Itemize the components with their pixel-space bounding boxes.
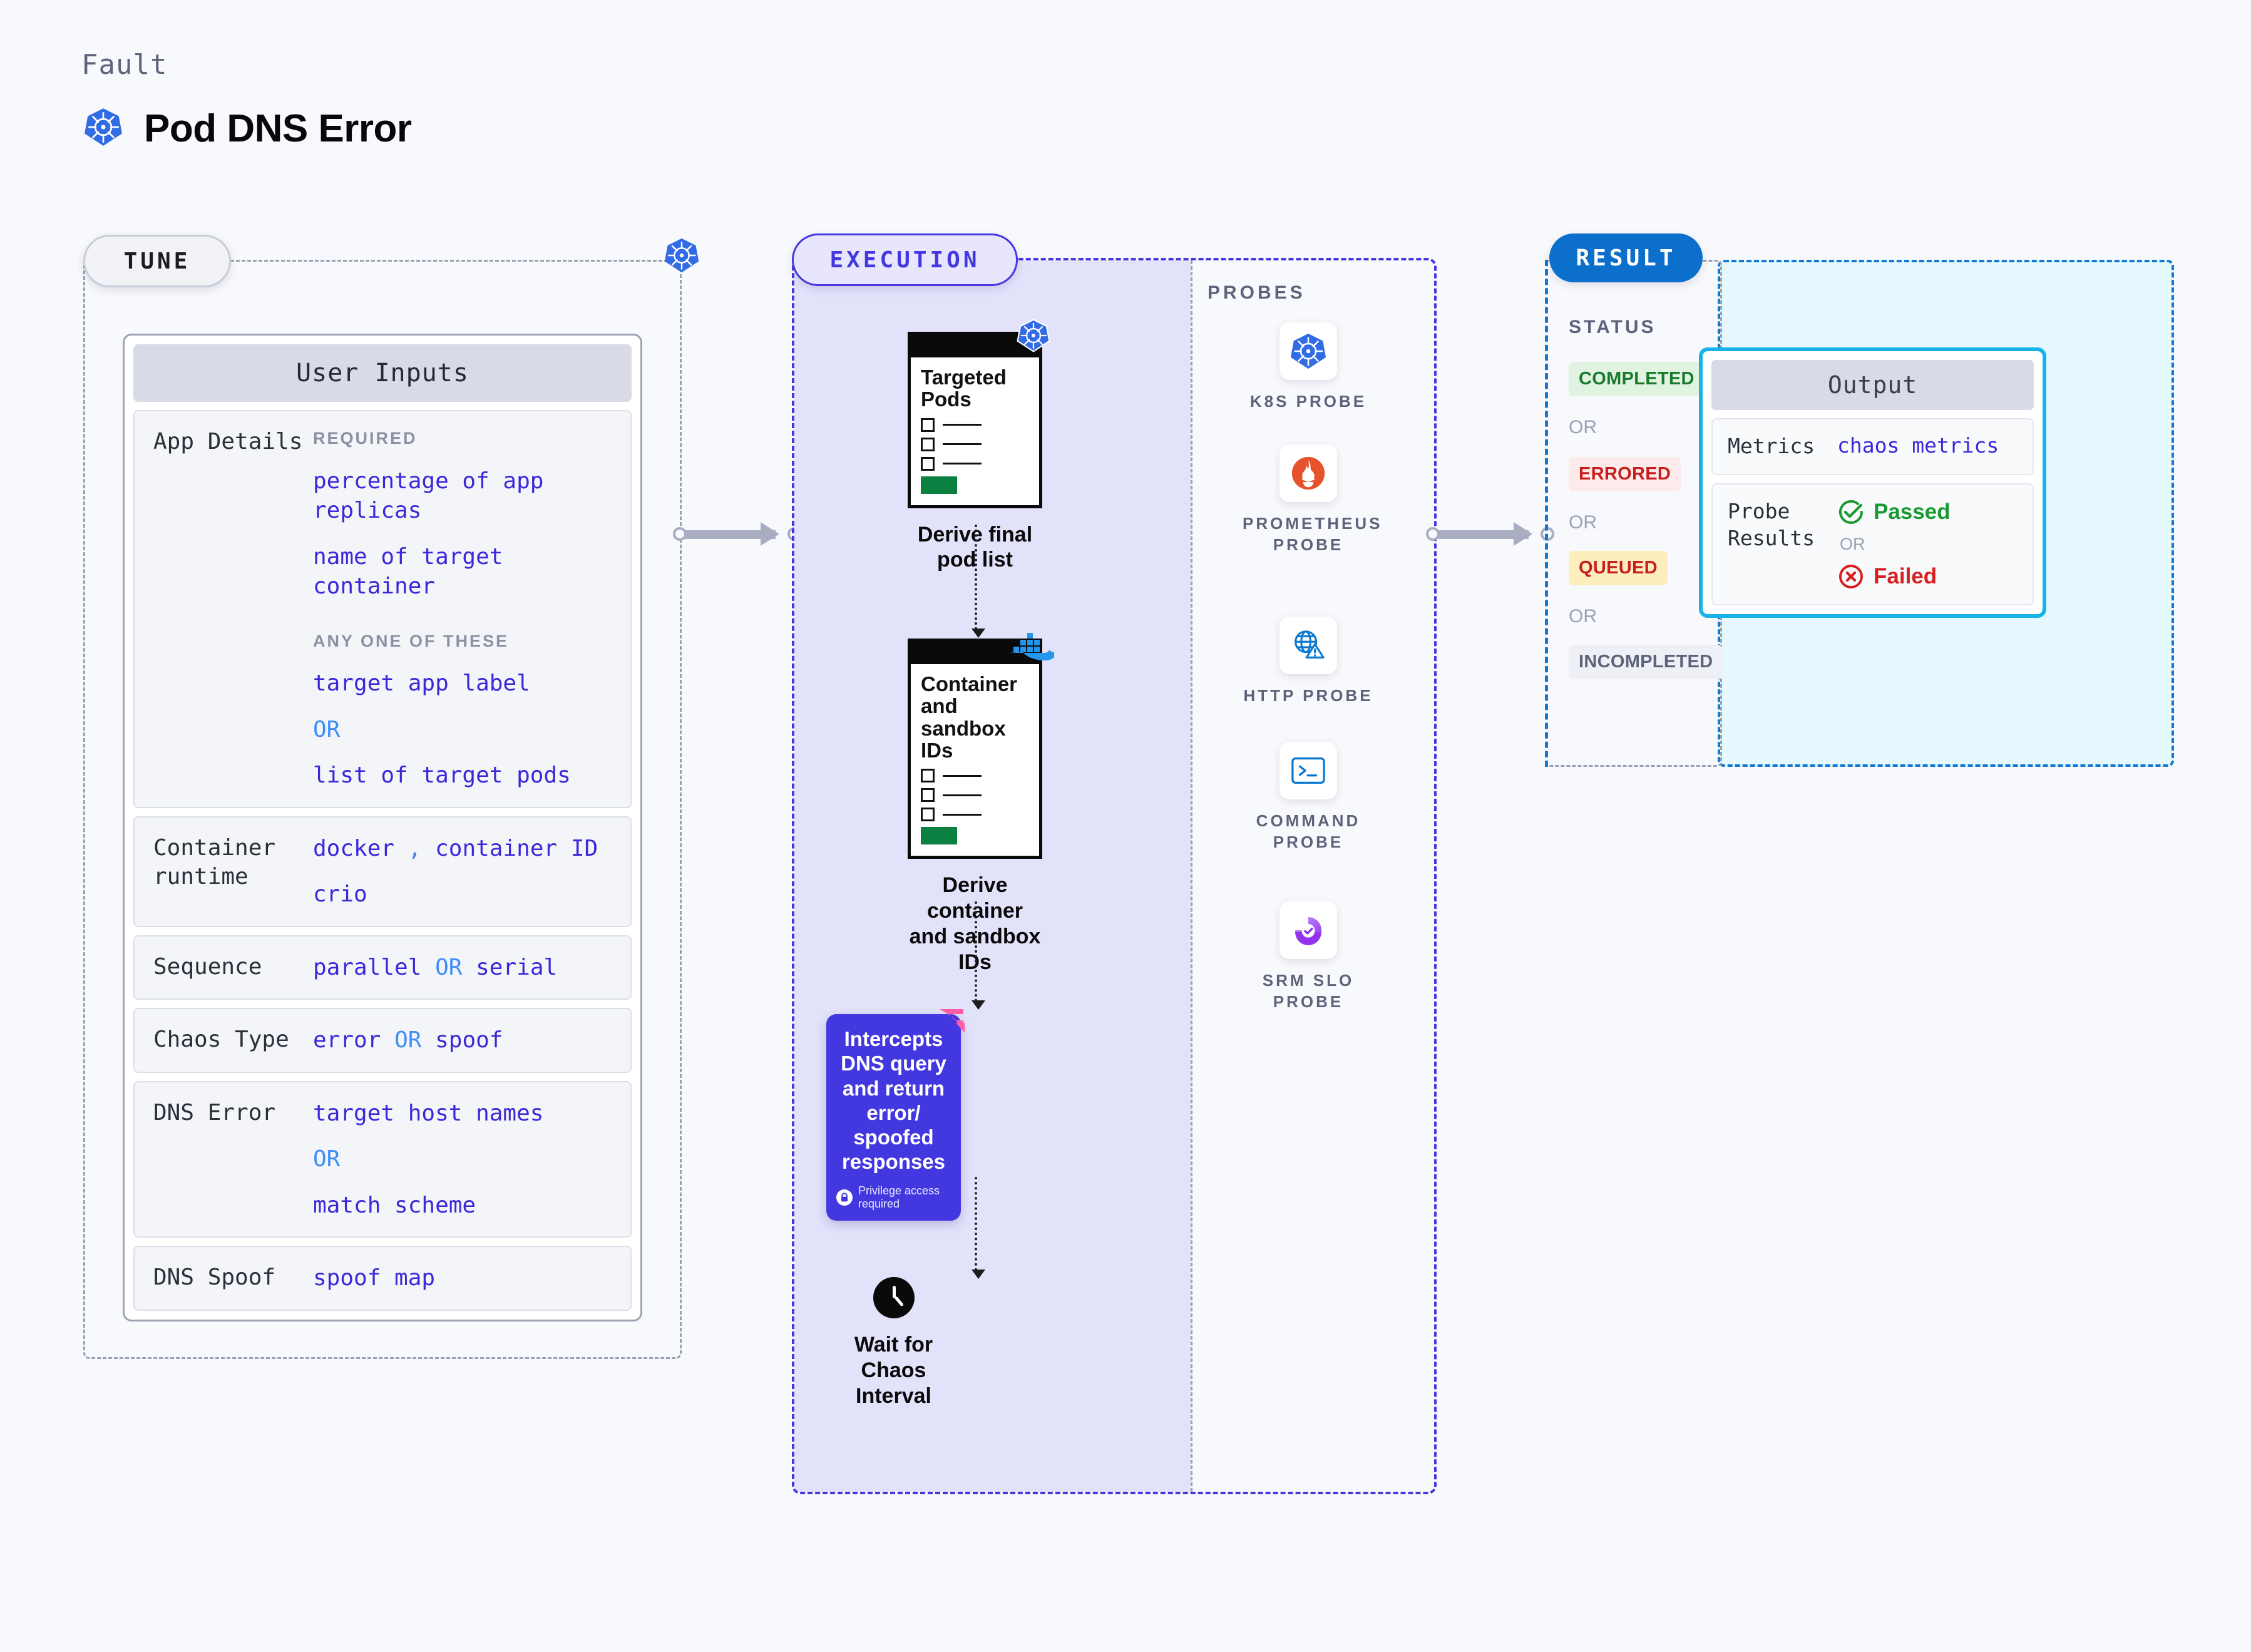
- output-row-metrics[interactable]: Metrics chaos metrics: [1711, 418, 2034, 475]
- user-inputs-card: User Inputs App Details REQUIRED percent…: [123, 334, 642, 1321]
- doc-title: Container and sandbox IDs: [921, 673, 1029, 761]
- row-value: chaos metrics: [1837, 433, 2018, 460]
- execution-pill[interactable]: EXECUTION: [792, 233, 1018, 286]
- row-value: error: [313, 1027, 381, 1053]
- probe-k8s[interactable]: K8S PROBE: [1243, 322, 1374, 413]
- row-value: percentage of app replicas: [313, 466, 612, 526]
- probe-label: PROMETHEUS PROBE: [1243, 513, 1374, 556]
- fault-kicker: Fault: [81, 49, 167, 81]
- status-or: OR: [1569, 512, 1597, 533]
- input-row-app-details[interactable]: App Details REQUIRED percentage of app r…: [133, 410, 632, 808]
- fault-title-row: Pod DNS Error: [83, 106, 412, 151]
- flow-arrow-2: [975, 901, 979, 1002]
- output-title: Output: [1711, 360, 2034, 410]
- probe-label: COMMAND PROBE: [1243, 811, 1374, 853]
- row-key: DNS Spoof: [153, 1263, 313, 1293]
- output-row-probe-results[interactable]: Probe Results Passed OR: [1711, 483, 2034, 605]
- status-title: STATUS: [1569, 317, 1656, 338]
- row-key: Sequence: [153, 953, 313, 983]
- row-caption-required: REQUIRED: [313, 428, 612, 450]
- probe-label: HTTP PROBE: [1243, 685, 1374, 707]
- connector-execution-result: [1426, 527, 1554, 530]
- status-badge-completed: COMPLETED: [1569, 362, 1705, 396]
- row-or: OR: [313, 1144, 612, 1174]
- kubernetes-icon: [1016, 318, 1051, 356]
- row-key: Container runtime: [153, 834, 313, 910]
- privilege-note-text: Privilege access required: [858, 1184, 951, 1211]
- user-inputs-title: User Inputs: [133, 344, 632, 402]
- row-value: match scheme: [313, 1191, 612, 1221]
- lock-icon: [836, 1189, 853, 1206]
- flow-arrow-1: [975, 525, 979, 630]
- status-or: OR: [1569, 606, 1597, 627]
- kubernetes-icon: [1279, 322, 1337, 380]
- input-row-dns-spoof[interactable]: DNS Spoof spoof map: [133, 1246, 632, 1311]
- probes-label: PROBES: [1208, 282, 1306, 304]
- node-wait-chaos-interval[interactable]: Wait for Chaos Interval: [826, 1277, 961, 1408]
- row-value: target app label: [313, 669, 612, 699]
- row-key: Chaos Type: [153, 1025, 313, 1055]
- result-left-edge: [1545, 260, 1548, 767]
- row-value: docker: [313, 836, 394, 861]
- result-status-region: STATUS COMPLETED OR ERRORED OR QUEUED OR…: [1545, 260, 1722, 767]
- probe-result-passed: Passed: [1837, 498, 2018, 526]
- action-text: Intercepts DNS query and return error/ s…: [836, 1027, 951, 1174]
- execution-probes-divider: [1191, 260, 1192, 1492]
- prometheus-icon: [1279, 444, 1337, 502]
- doc-status-block: [921, 827, 957, 844]
- row-or: OR: [394, 1027, 421, 1053]
- probe-label: SRM SLO PROBE: [1243, 970, 1374, 1013]
- input-row-chaos-type[interactable]: Chaos Type error OR spoof: [133, 1008, 632, 1073]
- tune-panel: User Inputs App Details REQUIRED percent…: [83, 260, 682, 1359]
- docker-icon: [1008, 627, 1054, 665]
- flow-arrow-3: [975, 1177, 979, 1271]
- row-key: DNS Error: [153, 1099, 313, 1221]
- page-title: Pod DNS Error: [144, 106, 412, 151]
- probe-result-or: OR: [1840, 535, 2018, 554]
- litmus-icon: [937, 1008, 966, 1039]
- row-value: target host names: [313, 1099, 612, 1129]
- x-circle-icon: [1837, 563, 1865, 590]
- row-separator: ,: [408, 836, 422, 861]
- action-intercept-dns[interactable]: Intercepts DNS query and return error/ s…: [826, 1014, 961, 1221]
- privilege-note: Privilege access required: [836, 1184, 951, 1211]
- status-badge-errored: ERRORED: [1569, 457, 1681, 491]
- probe-label: K8S PROBE: [1243, 391, 1374, 413]
- status-badge-incompleted: INCOMPLETED: [1569, 645, 1723, 679]
- output-card: Output Metrics chaos metrics Probe Resul…: [1699, 347, 2046, 618]
- input-row-dns-error[interactable]: DNS Error target host names OR match sch…: [133, 1081, 632, 1238]
- row-or: OR: [313, 715, 612, 745]
- row-key: Probe Results: [1728, 498, 1837, 590]
- row-or: OR: [435, 955, 462, 980]
- probe-result-failed: Failed: [1837, 563, 2018, 590]
- row-value: spoof: [435, 1027, 503, 1053]
- row-key: App Details: [153, 428, 313, 791]
- row-value: name of target container: [313, 542, 612, 602]
- probe-prometheus[interactable]: PROMETHEUS PROBE: [1243, 444, 1374, 556]
- doc-checklist: [921, 769, 1029, 821]
- connector-tune-execution: [673, 527, 801, 530]
- node-caption: Wait for Chaos Interval: [826, 1332, 961, 1408]
- doc-status-block: [921, 476, 957, 494]
- probe-srm-slo[interactable]: SRM SLO PROBE: [1243, 901, 1374, 1013]
- failed-label: Failed: [1874, 564, 1937, 589]
- probe-http[interactable]: HTTP PROBE: [1243, 617, 1374, 707]
- probe-command[interactable]: COMMAND PROBE: [1243, 742, 1374, 853]
- terminal-icon: [1279, 742, 1337, 799]
- row-value: list of target pods: [313, 761, 612, 791]
- input-row-sequence[interactable]: Sequence parallel OR serial: [133, 935, 632, 1000]
- status-or: OR: [1569, 417, 1597, 438]
- tune-pill[interactable]: TUNE: [83, 235, 231, 287]
- status-badge-queued: QUEUED: [1569, 551, 1668, 585]
- globe-warning-icon: [1279, 617, 1337, 674]
- row-value: container ID: [435, 836, 598, 861]
- check-circle-icon: [1837, 498, 1865, 526]
- srm-slo-icon: [1279, 901, 1337, 959]
- doc-checklist: [921, 418, 1029, 471]
- row-value: spoof map: [313, 1265, 435, 1291]
- clock-icon: [873, 1277, 915, 1318]
- input-row-container-runtime[interactable]: Container runtime docker , container ID …: [133, 816, 632, 927]
- kubernetes-icon: [83, 106, 124, 151]
- row-value: serial: [476, 955, 557, 980]
- kubernetes-icon: [663, 237, 700, 277]
- passed-label: Passed: [1874, 500, 1951, 525]
- row-value: crio: [313, 880, 612, 910]
- row-value: parallel: [313, 955, 421, 980]
- row-caption-any-one: ANY ONE OF THESE: [313, 630, 612, 653]
- row-key: Metrics: [1728, 433, 1837, 460]
- doc-title: Targeted Pods: [921, 366, 1029, 411]
- result-pill[interactable]: RESULT: [1549, 233, 1703, 282]
